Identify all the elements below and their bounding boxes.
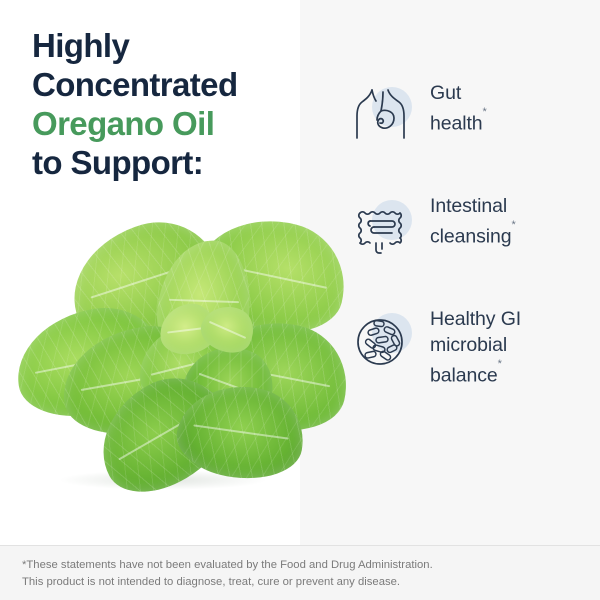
benefit-label: Gut health*	[430, 80, 487, 137]
footnote-marker: *	[512, 219, 516, 231]
benefit-label-line-2: health	[430, 113, 483, 135]
benefit-label-line-2: cleansing	[430, 226, 512, 248]
disclaimer-text: *These statements have not been evaluate…	[22, 557, 582, 590]
benefit-label-line-1: Healthy GI	[430, 308, 521, 330]
footer-disclaimer: *These statements have not been evaluate…	[0, 545, 600, 600]
petri-dish-microbes-icon	[352, 310, 414, 372]
headline-line-1: Highly	[32, 26, 294, 65]
benefit-item-microbial-balance: Healthy GI microbial balance*	[352, 304, 582, 417]
benefit-label-line-3: balance	[430, 365, 498, 387]
infographic-canvas: Highly Concentrated Oregano Oil to Suppo…	[0, 0, 600, 600]
page-title: Highly Concentrated Oregano Oil to Suppo…	[32, 26, 294, 182]
stomach-icon	[352, 84, 414, 146]
benefit-label-line-1: Gut	[430, 82, 461, 104]
footnote-marker: *	[498, 358, 502, 370]
benefits-list: Gut health*	[352, 78, 582, 417]
headline-line-4: to Support:	[32, 143, 294, 182]
benefit-label: Intestinal cleansing*	[430, 193, 516, 250]
benefit-label-line-2: microbial	[430, 334, 507, 356]
benefit-label-line-1: Intestinal	[430, 195, 507, 217]
oregano-plant-image	[10, 218, 350, 503]
benefit-item-intestinal-cleansing: Intestinal cleansing*	[352, 191, 582, 304]
intestines-icon	[352, 197, 414, 259]
footnote-marker: *	[483, 106, 487, 118]
benefit-item-gut-health: Gut health*	[352, 78, 582, 191]
headline-line-3: Oregano Oil	[32, 104, 294, 143]
disclaimer-line-2: This product is not intended to diagnose…	[22, 574, 582, 591]
disclaimer-line-1: *These statements have not been evaluate…	[22, 557, 582, 574]
benefit-label: Healthy GI microbial balance*	[430, 306, 521, 389]
headline-line-2: Concentrated	[32, 65, 294, 104]
